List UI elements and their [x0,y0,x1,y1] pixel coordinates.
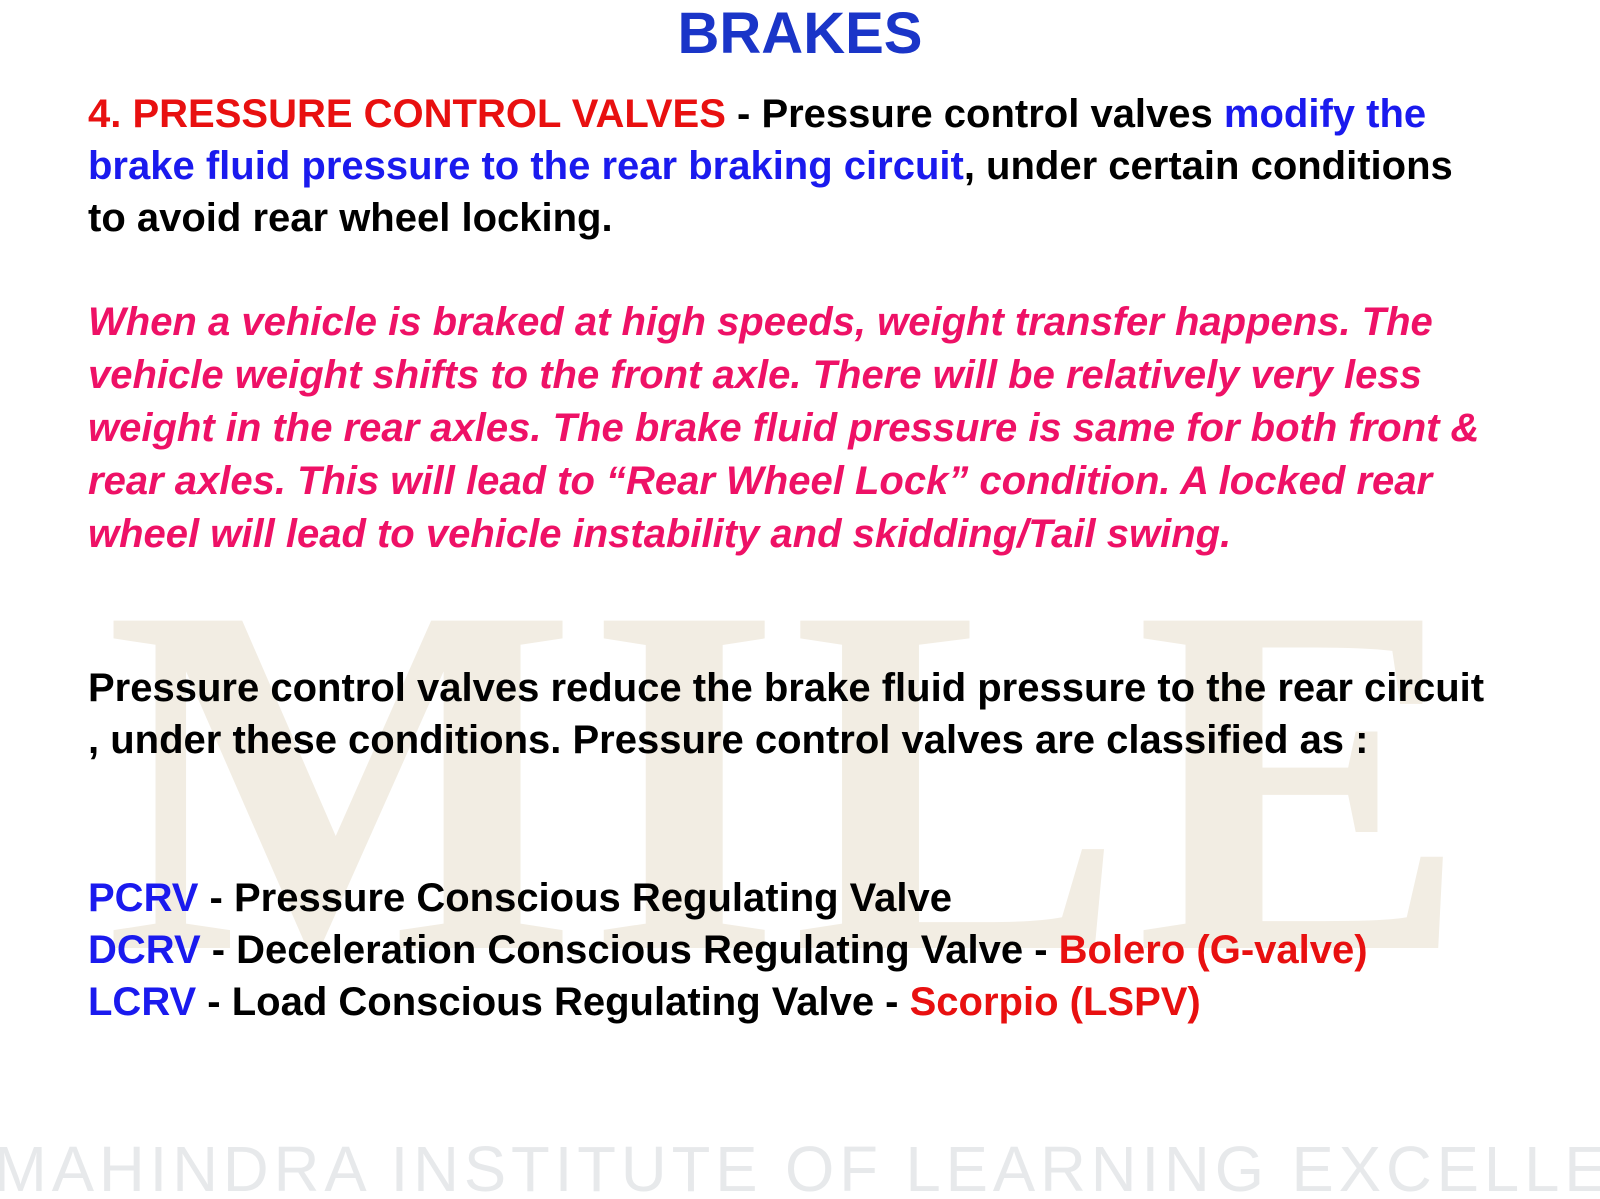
intro-lead: Pressure control valves [761,92,1223,136]
intro-paragraph-block: 4. PRESSURE CONTROL VALVES - Pressure co… [88,88,1488,244]
valve-name-lcrv: Load Conscious Regulating Valve [232,980,874,1024]
slide-canvas: MILE BRAKES 4. PRESSURE CONTROL VALVES -… [0,0,1600,1199]
reduce-paragraph-block: Pressure control valves reduce the brake… [88,662,1488,766]
valve-sep-lcrv: - [196,980,232,1024]
institute-footer: MAHINDRA INSTITUTE OF LEARNING EXCELLENC… [0,1134,1598,1199]
valve-item-pcrv: PCRV - Pressure Conscious Regulating Val… [88,872,1488,924]
valve-sep-dcrv: - [201,928,237,972]
intro-paragraph: 4. PRESSURE CONTROL VALVES - Pressure co… [88,88,1488,244]
intro-dash: - [726,92,762,136]
valve-list: PCRV - Pressure Conscious Regulating Val… [88,872,1488,1028]
weight-transfer-paragraph: When a vehicle is braked at high speeds,… [88,296,1488,561]
valve-sep-pcrv: - [198,876,234,920]
pink-paragraph-block: When a vehicle is braked at high speeds,… [88,296,1488,561]
valve-model-sep-dcrv: - [1023,928,1059,972]
page-title: BRAKES [0,2,1600,66]
valve-name-pcrv: Pressure Conscious Regulating Valve [234,876,952,920]
valve-model-sep-lcrv: - [874,980,910,1024]
intro-heading: 4. PRESSURE CONTROL VALVES [88,92,726,136]
valve-model-dcrv: Bolero (G-valve) [1059,928,1368,972]
valve-model-lcrv: Scorpio (LSPV) [910,980,1201,1024]
valve-item-lcrv: LCRV - Load Conscious Regulating Valve -… [88,976,1488,1028]
valve-abbr-lcrv: LCRV [88,980,196,1024]
valve-abbr-pcrv: PCRV [88,876,198,920]
valve-name-dcrv: Deceleration Conscious Regulating Valve [236,928,1023,972]
valve-item-dcrv: DCRV - Deceleration Conscious Regulating… [88,924,1488,976]
classification-paragraph: Pressure control valves reduce the brake… [88,662,1488,766]
valve-abbr-dcrv: DCRV [88,928,201,972]
